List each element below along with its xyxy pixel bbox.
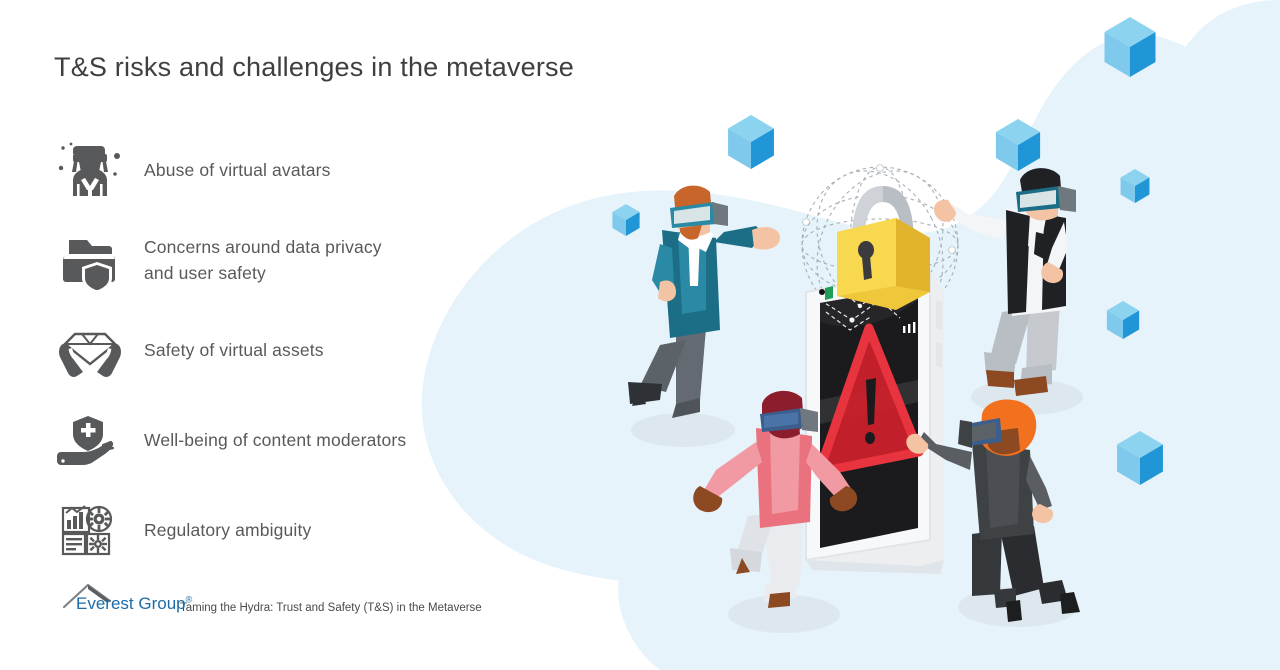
folder-shield-icon [54,230,126,292]
list-item[interactable]: Abuse of virtual avatars [54,126,524,216]
diamond-in-hands-icon [54,320,126,382]
everest-group-logo-text: Everest Group® [76,594,192,614]
list-item-label: Well-being of content moderators [126,428,406,454]
everest-group-logo[interactable]: Everest Group® [62,583,174,617]
padlock-icon [837,186,930,310]
registered-mark: ® [186,594,193,604]
footer: Everest Group® Taming the Hydra: Trust a… [62,583,482,617]
list-item[interactable]: Well-being of content moderators [54,396,524,486]
list-item-label: Concerns around data privacy and user sa… [126,235,382,287]
list-item-label: Abuse of virtual avatars [126,158,330,184]
shield-on-hand-icon [54,410,126,472]
avatar-vr-headset-icon [54,140,126,202]
page-title: T&S risks and challenges in the metavers… [54,52,574,83]
footer-caption: Taming the Hydra: Trust and Safety (T&S)… [174,602,482,617]
list-item[interactable]: Regulatory ambiguity [54,486,524,576]
risk-list: Abuse of virtual avatars Concerns around… [54,126,524,576]
document-gears-icon [54,500,126,562]
list-item-label: Safety of virtual assets [126,338,324,364]
list-item[interactable]: Safety of virtual assets [54,306,524,396]
logo-word: Everest Group [76,594,186,613]
list-item[interactable]: Concerns around data privacy and user sa… [54,216,524,306]
list-item-label: Regulatory ambiguity [126,518,311,544]
slide-canvas: T&S risks and challenges in the metavers… [0,0,1280,670]
